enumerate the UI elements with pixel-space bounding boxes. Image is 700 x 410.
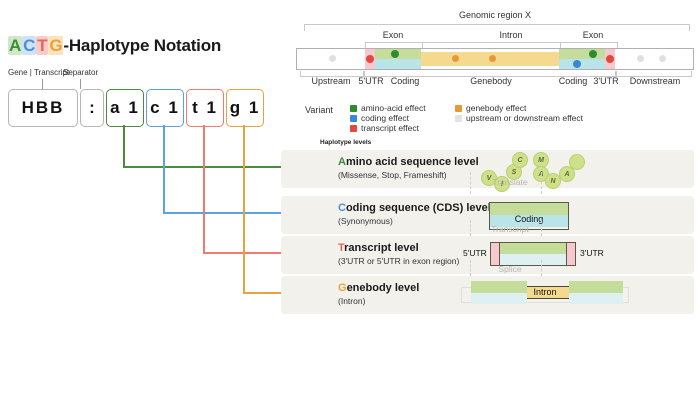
genebody-box-label: Intron bbox=[461, 287, 629, 297]
connector-transcript-h bbox=[203, 252, 281, 254]
transcript-5utr-label: 5'UTR bbox=[463, 248, 487, 258]
tick-separator bbox=[80, 79, 81, 89]
genomic-region-diagram: Genomic region X Exon Intron Exon Upstre… bbox=[296, 10, 694, 88]
bottom-label-upstream: Upstream bbox=[300, 76, 362, 86]
legend-item-amino: amino-acid effect bbox=[350, 103, 426, 113]
legend-swatch-updown bbox=[455, 115, 462, 122]
segment-label-exon-right: Exon bbox=[558, 30, 628, 40]
transcript-dash-guide bbox=[470, 220, 542, 236]
legend-swatch-amino bbox=[350, 105, 357, 112]
level-cds-initial: C bbox=[338, 202, 346, 214]
variant-dot-intron-2 bbox=[489, 55, 496, 62]
variant-dot-coding-right bbox=[573, 60, 581, 68]
variant-dot-5utr bbox=[366, 55, 374, 63]
legend-swatch-coding bbox=[350, 115, 357, 122]
connector-coding-v1 bbox=[163, 125, 165, 212]
translate-dash-guide bbox=[470, 172, 542, 194]
legend-item-coding: coding effect bbox=[350, 113, 409, 123]
level-genebody[interactable]: Genebody level (Intron) Intron bbox=[281, 276, 694, 314]
notation-box-transcript[interactable]: t 1 bbox=[186, 89, 224, 127]
nucleotide-t: T bbox=[36, 36, 48, 55]
variant-dot-3utr bbox=[606, 55, 614, 63]
level-amino-name-rest: mino acid sequence level bbox=[346, 156, 479, 168]
haplotype-levels-title: Haplotype levels bbox=[320, 139, 371, 146]
level-genebody-sub: (Intron) bbox=[338, 296, 365, 306]
bottom-label-genebody: Genebody bbox=[436, 76, 546, 86]
transcript-3utr-label: 3'UTR bbox=[580, 248, 604, 258]
nucleotide-g: G bbox=[48, 36, 63, 55]
genomic-region-title: Genomic region X bbox=[296, 10, 694, 20]
connector-amino-h bbox=[123, 166, 281, 168]
tick-gene bbox=[42, 79, 43, 89]
level-cds-name: Coding sequence (CDS) level bbox=[338, 202, 491, 214]
notation-box-genebody[interactable]: g 1 bbox=[226, 89, 264, 127]
legend-label-coding: coding effect bbox=[361, 113, 409, 123]
bottom-label-3utr: 3'UTR bbox=[592, 76, 620, 86]
title-suffix: -Haplotype Notation bbox=[63, 36, 221, 55]
level-amino-initial: A bbox=[338, 156, 346, 168]
segment-label-exon-left: Exon bbox=[358, 30, 428, 40]
nucleotide-c: C bbox=[22, 36, 36, 55]
notation-box-gene[interactable]: HBB bbox=[8, 89, 78, 127]
amino-acid-circle-3: C bbox=[512, 152, 528, 168]
legend-title: Variant bbox=[305, 105, 333, 115]
level-transcript-sub: (3'UTR or 5'UTR in exon region) bbox=[338, 256, 459, 266]
block-coding-right-bot bbox=[559, 59, 605, 69]
level-genebody-name-rest: enebody level bbox=[347, 282, 420, 294]
caption-gene-transcript: Gene | Transcript bbox=[8, 68, 69, 77]
amino-acid-circle-tail-1 bbox=[569, 154, 585, 170]
notation-box-separator[interactable]: : bbox=[80, 89, 104, 127]
level-amino-sub: (Missense, Stop, Frameshift) bbox=[338, 170, 447, 180]
legend-swatch-genebody bbox=[455, 105, 462, 112]
level-transcript-name: Transcript level bbox=[338, 242, 419, 254]
page-title: ACTG-Haplotype Notation bbox=[8, 36, 221, 56]
notation-box-coding[interactable]: c 1 bbox=[146, 89, 184, 127]
legend-label-transcript: transcript effect bbox=[361, 123, 419, 133]
legend-label-amino: amino-acid effect bbox=[361, 103, 426, 113]
legend-swatch-transcript bbox=[350, 125, 357, 132]
variant-dot-downstream-1 bbox=[637, 55, 644, 62]
legend-item-updown: upstream or downstream effect bbox=[455, 113, 583, 123]
level-genebody-name: Genebody level bbox=[338, 282, 419, 294]
variant-dot-amino-right bbox=[589, 50, 597, 58]
connector-amino-v1 bbox=[123, 125, 125, 166]
variant-dot-intron-1 bbox=[452, 55, 459, 62]
variant-dot-downstream-2 bbox=[659, 55, 666, 62]
genebody-graphic: Intron bbox=[461, 281, 629, 307]
legend-label-genebody: genebody effect bbox=[466, 103, 526, 113]
connector-genebody-v1 bbox=[243, 125, 245, 292]
genomic-track bbox=[296, 48, 694, 70]
block-coding-left-bot bbox=[375, 59, 421, 69]
notation-box-amino[interactable]: a 1 bbox=[106, 89, 144, 127]
connector-coding-h bbox=[163, 212, 281, 214]
variant-dot-amino-left bbox=[391, 50, 399, 58]
level-genebody-initial: G bbox=[338, 282, 347, 294]
legend-item-genebody: genebody effect bbox=[455, 103, 526, 113]
bottom-label-coding-left: Coding bbox=[386, 76, 424, 86]
bottom-label-5utr: 5'UTR bbox=[356, 76, 386, 86]
bottom-label-downstream: Downstream bbox=[618, 76, 692, 86]
block-coding-right-top bbox=[559, 49, 605, 59]
connector-transcript-v1 bbox=[203, 125, 205, 252]
level-cds-sub: (Synonymous) bbox=[338, 216, 393, 226]
legend-label-updown: upstream or downstream effect bbox=[466, 113, 583, 123]
connector-genebody-h bbox=[243, 292, 281, 294]
bottom-label-coding-right: Coding bbox=[554, 76, 592, 86]
level-cds-name-rest: oding sequence (CDS) level bbox=[346, 202, 491, 214]
legend-item-transcript: transcript effect bbox=[350, 123, 419, 133]
caption-separator: Separator bbox=[63, 68, 98, 77]
nucleotide-a: A bbox=[8, 36, 22, 55]
splice-dash-guide bbox=[470, 260, 542, 276]
level-transcript-name-rest: ranscript level bbox=[344, 242, 419, 254]
variant-dot-upstream-1 bbox=[329, 55, 336, 62]
level-amino-name: Amino acid sequence level bbox=[338, 156, 479, 168]
